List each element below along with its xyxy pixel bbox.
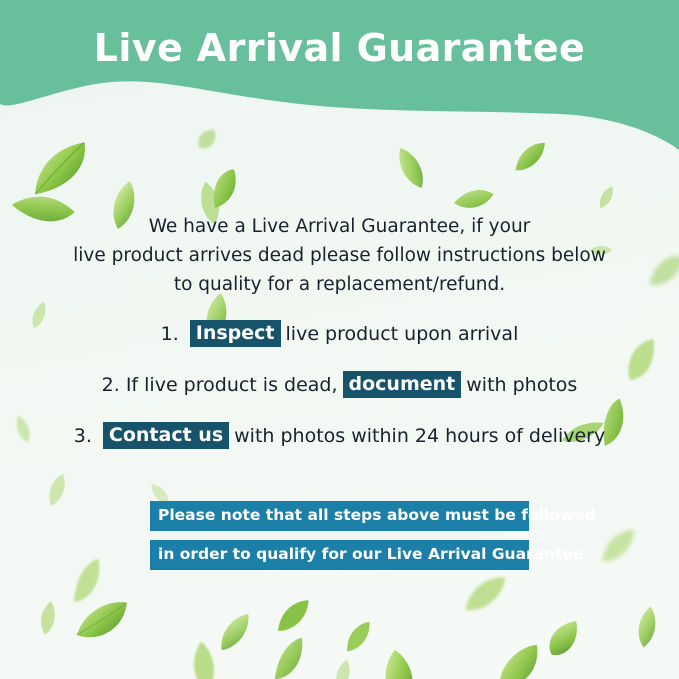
step-text-before: If live product is dead,	[126, 372, 338, 398]
notice-block: Please note that all steps above must be…	[150, 501, 529, 570]
list-item: 2. If live product is dead, document wit…	[0, 371, 679, 398]
page-title: Live Arrival Guarantee	[0, 29, 679, 67]
notice-line-2: in order to qualify for our Live Arrival…	[150, 540, 529, 570]
steps-list: 1. Inspect live product upon arrival 2. …	[0, 320, 679, 473]
content-area: Live Arrival Guarantee We have a Live Ar…	[0, 0, 679, 679]
list-item: 3. Contact us with photos within 24 hour…	[0, 422, 679, 449]
intro-line-1: We have a Live Arrival Guarantee, if you…	[68, 212, 611, 241]
step-text-after: with photos within 24 hours of delivery	[234, 423, 605, 449]
list-item: 1. Inspect live product upon arrival	[0, 320, 679, 347]
step-number: 2.	[102, 372, 120, 398]
step-text-after: live product upon arrival	[286, 321, 519, 347]
step-number: 1.	[161, 321, 179, 347]
intro-paragraph: We have a Live Arrival Guarantee, if you…	[68, 212, 611, 299]
intro-line-2: live product arrives dead please follow …	[68, 241, 611, 270]
live-arrival-guarantee-poster: Live Arrival Guarantee We have a Live Ar…	[0, 0, 679, 679]
step-text-after: with photos	[466, 372, 577, 398]
step-number: 3.	[74, 423, 92, 449]
intro-line-3: to quality for a replacement/refund.	[68, 270, 611, 299]
step-highlight-document: document	[343, 371, 462, 398]
step-highlight-inspect: Inspect	[190, 320, 281, 347]
notice-line-1: Please note that all steps above must be…	[150, 501, 529, 531]
step-highlight-contact-us: Contact us	[103, 422, 229, 449]
